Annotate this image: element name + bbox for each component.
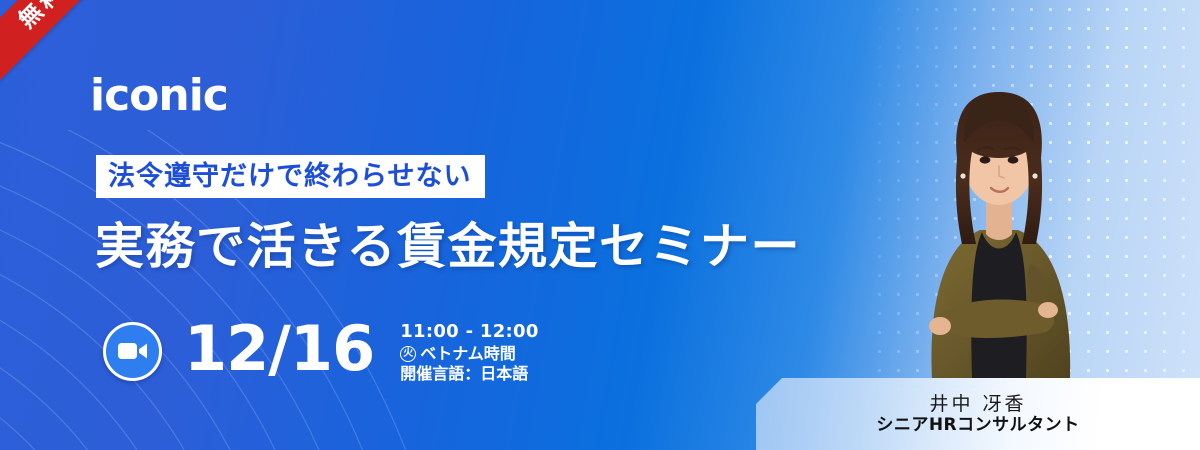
page-title: 実務で活きる賃金規定セミナー bbox=[95, 220, 801, 274]
event-date: 12/16 bbox=[184, 318, 374, 380]
seminar-banner: 無料 iconic 法令遵守だけで終わらせない 実務で活きる賃金規定セミナー 1… bbox=[0, 0, 1200, 450]
speaker-info-panel: 井中 冴香 シニアHRコンサルタント bbox=[756, 378, 1200, 450]
event-timezone: ベトナム時間 bbox=[420, 344, 516, 364]
event-language: 開催言語：日本語 bbox=[400, 364, 539, 384]
speaker-role: シニアHRコンサルタント bbox=[876, 417, 1079, 434]
schedule-row: 12/16 11:00 - 12:00 火 ベトナム時間 開催言語：日本語 bbox=[103, 320, 539, 383]
subtitle-text: 法令遵守だけで終わらせない bbox=[108, 163, 471, 190]
speaker-name: 井中 冴香 bbox=[929, 395, 1026, 414]
event-timezone-row: 火 ベトナム時間 bbox=[400, 344, 539, 364]
iconic-logo: iconic bbox=[90, 74, 228, 118]
video-camera-icon bbox=[103, 322, 162, 381]
subtitle-box: 法令遵守だけで終わらせない bbox=[96, 155, 485, 198]
free-ribbon-label: 無料 bbox=[15, 0, 69, 33]
speaker-photo bbox=[894, 48, 1104, 378]
day-of-week-badge: 火 bbox=[400, 346, 416, 362]
event-time-block: 11:00 - 12:00 火 ベトナム時間 開催言語：日本語 bbox=[400, 321, 539, 384]
event-time: 11:00 - 12:00 bbox=[400, 321, 539, 344]
